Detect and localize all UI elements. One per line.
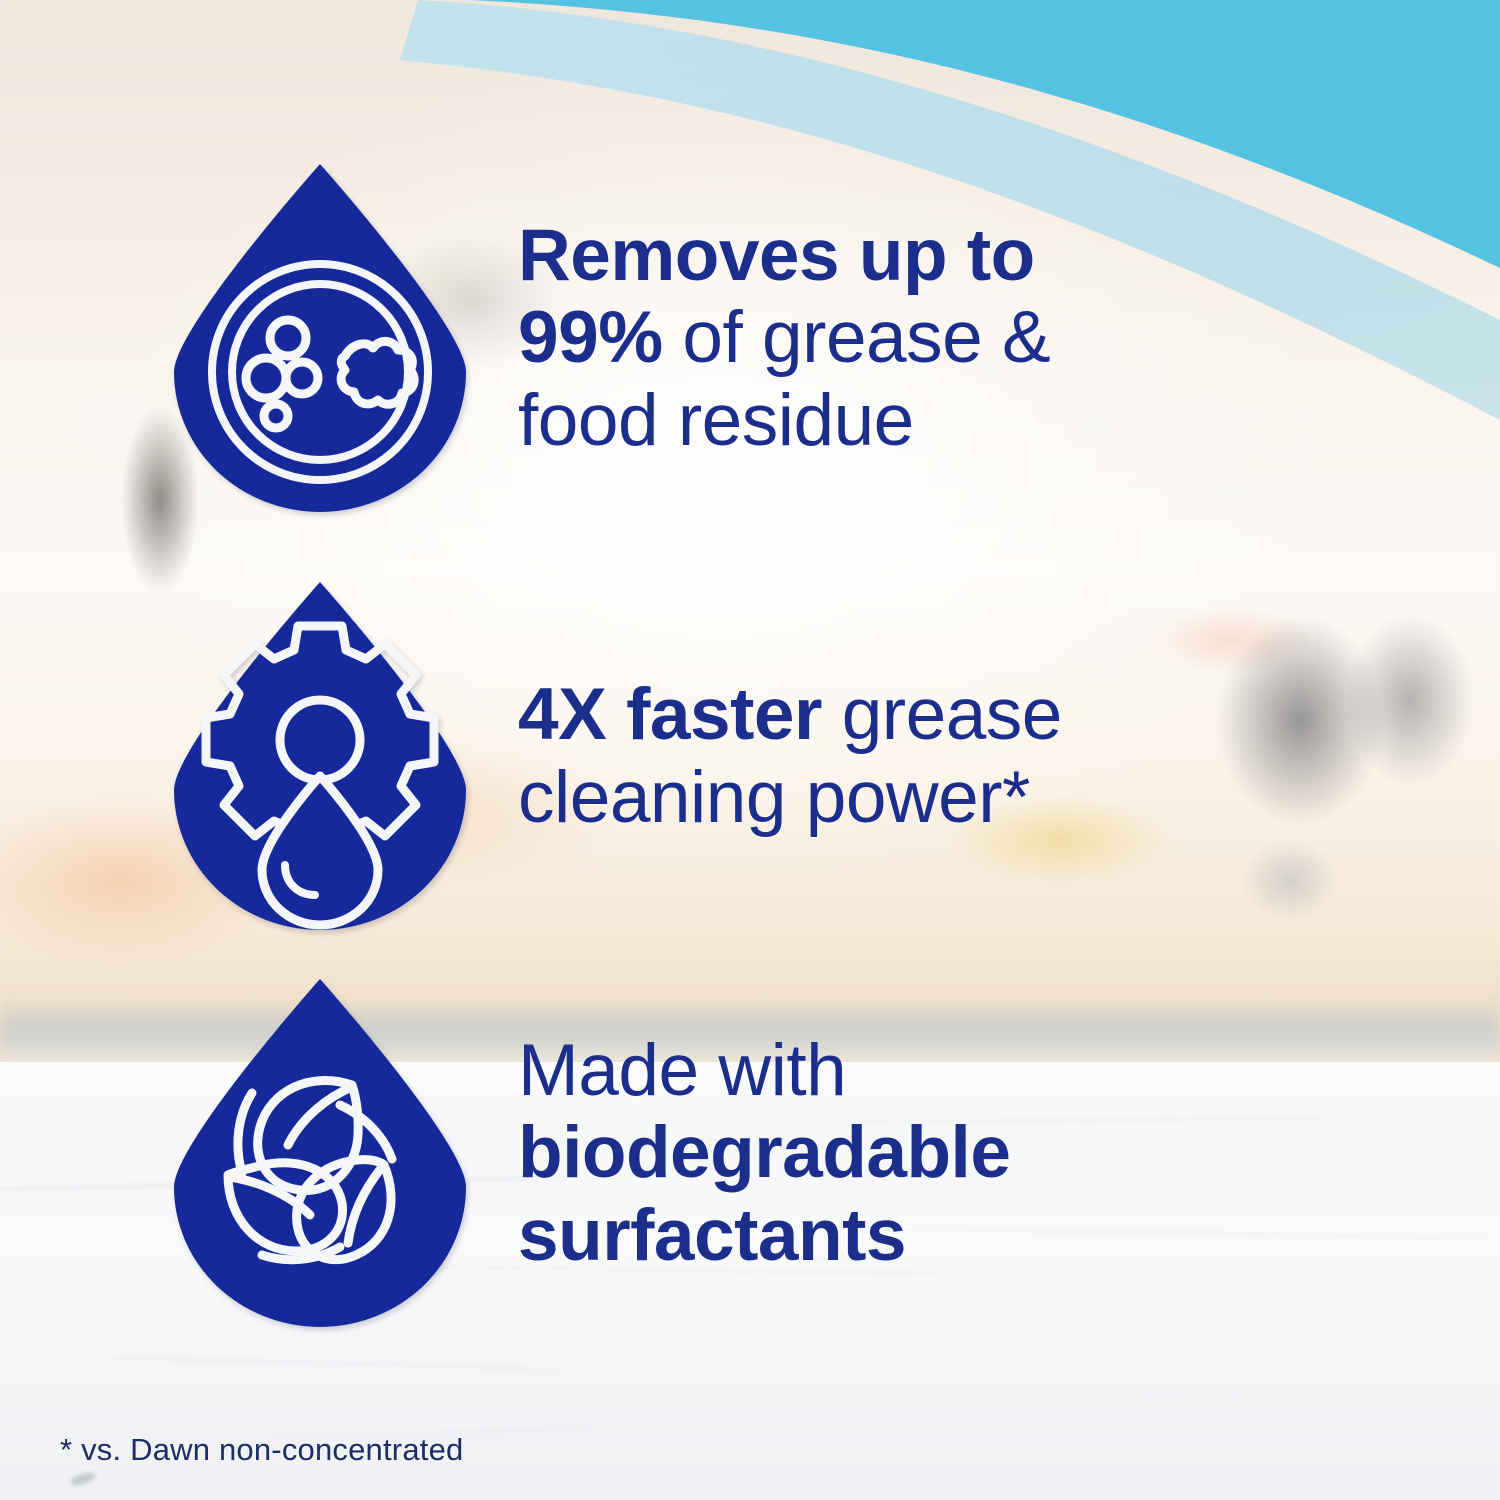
marble-speck [69, 1470, 97, 1488]
droplet-shape [174, 979, 466, 1327]
feature-row-cleaning-power: 4X faster grease cleaning power* [170, 578, 1208, 935]
marble-vein [1100, 1388, 1500, 1397]
infographic-page: Removes up to 99% of grease & food resid… [0, 0, 1500, 1500]
feature-text-cleaning-power: 4X faster grease cleaning power* [518, 674, 1208, 839]
feature-row-grease-removal: Removes up to 99% of grease & food resid… [170, 160, 1178, 517]
feature-text-grease-removal: Removes up to 99% of grease & food resid… [518, 215, 1178, 462]
feature-text-regular: Made with [518, 1030, 846, 1111]
marble-vein [60, 1356, 580, 1371]
gear-with-droplet-icon [170, 578, 470, 935]
feature-row-biodegradable: Made with biodegradable surfactants [170, 975, 1158, 1332]
footnote-disclaimer: * vs. Dawn non-concentrated [60, 1432, 463, 1468]
feature-text-biodegradable: Made with biodegradable surfactants [518, 1030, 1158, 1277]
three-leaves-recycle-icon [170, 975, 470, 1332]
feature-text-bold: 4X faster [518, 674, 822, 755]
plate-with-food-residue-icon [170, 160, 470, 517]
feature-text-bold: biodegradable surfactants [518, 1112, 1010, 1275]
